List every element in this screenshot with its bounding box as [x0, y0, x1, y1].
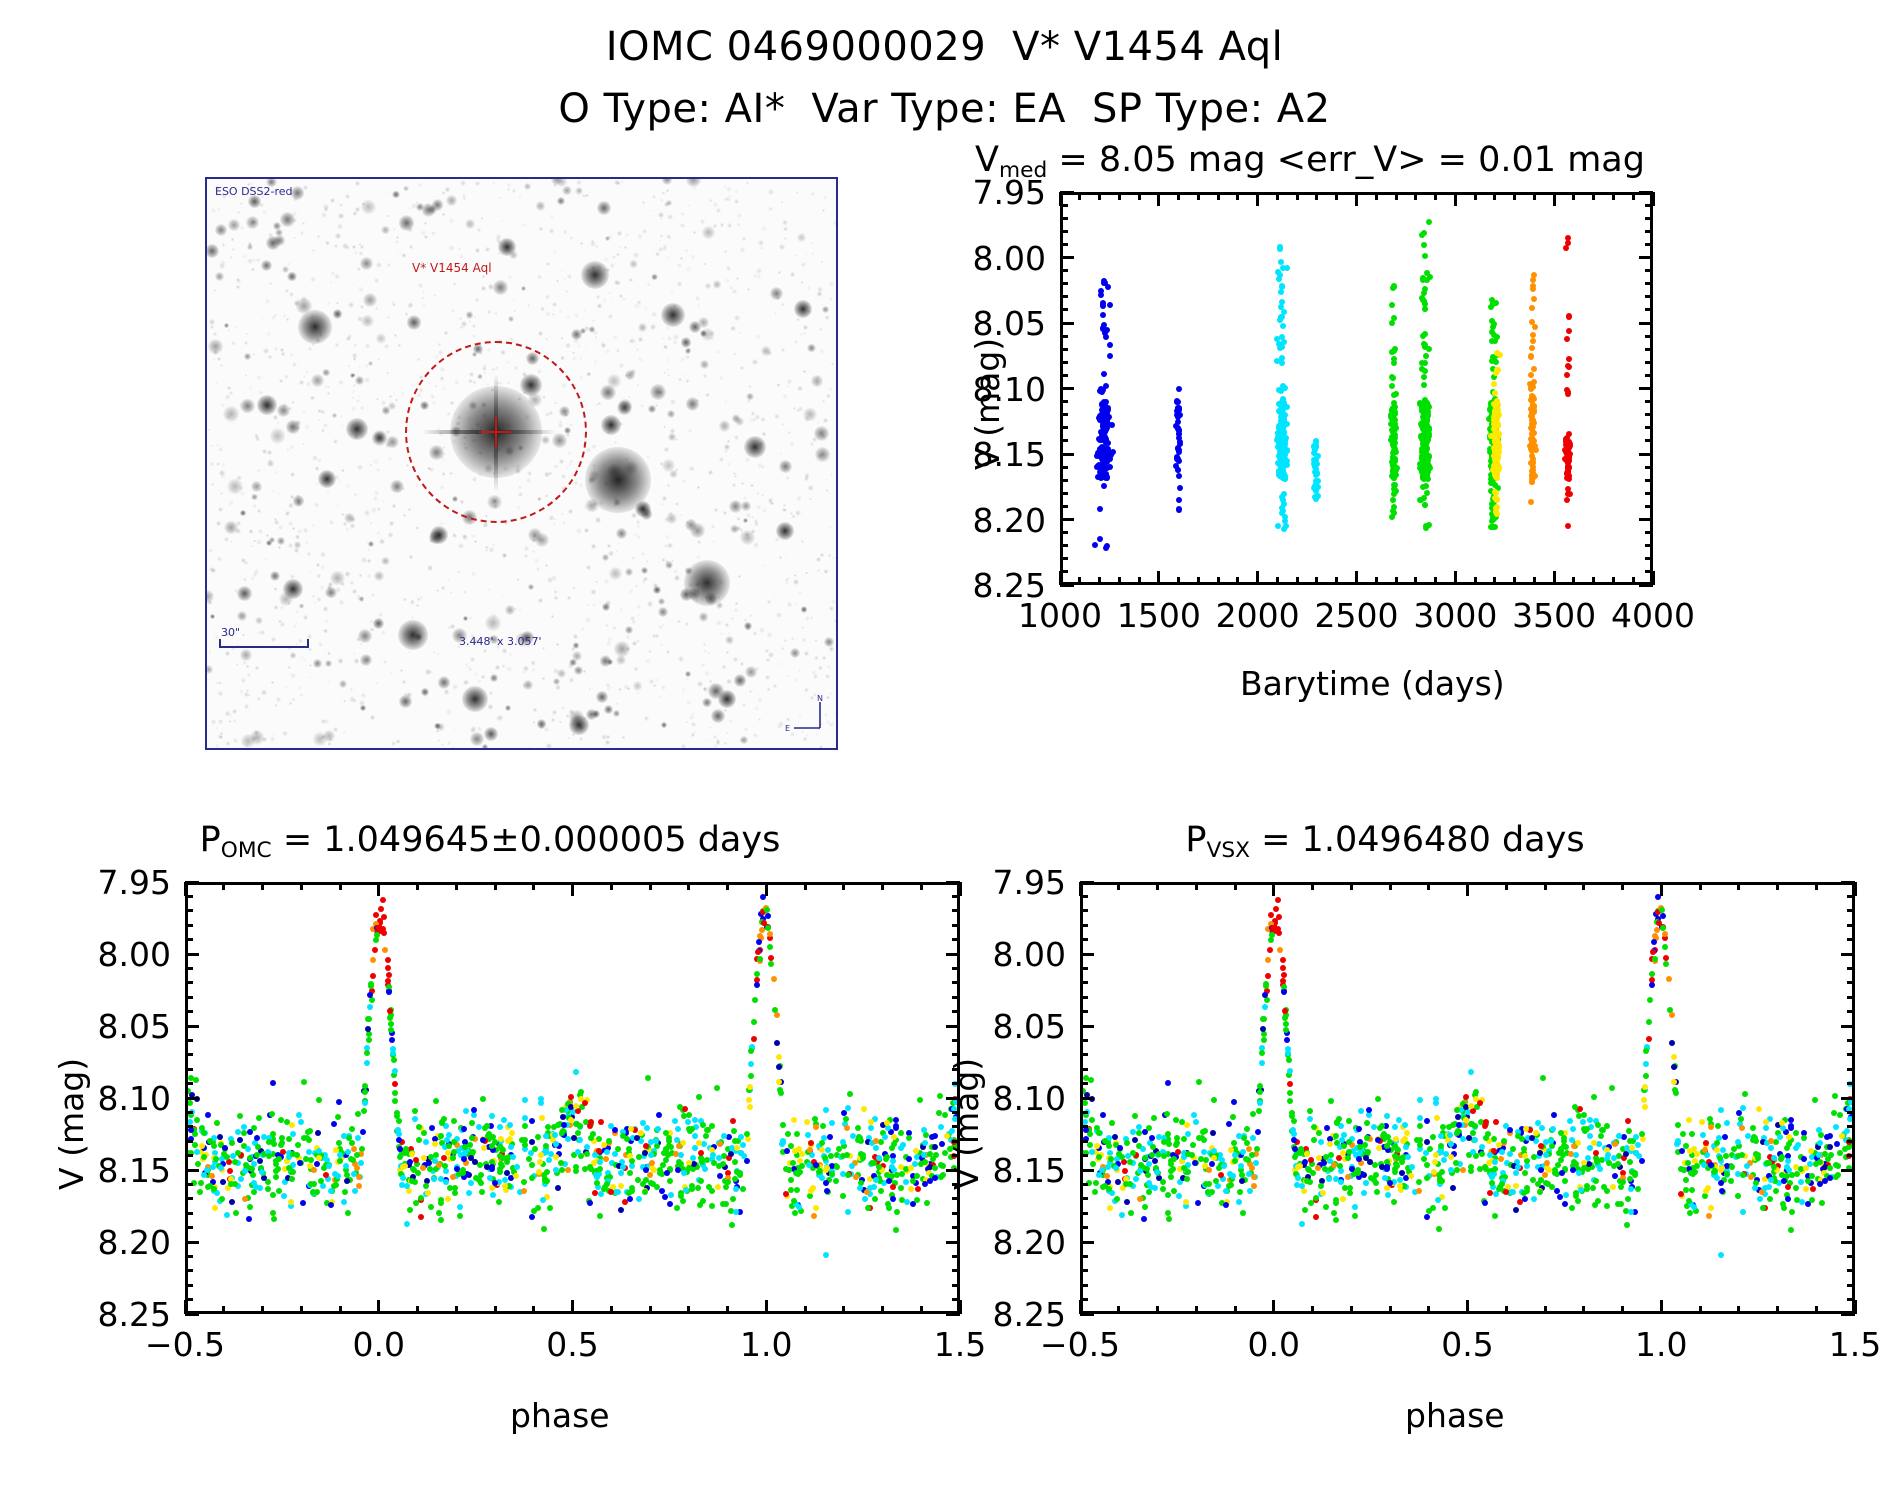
data-point: [428, 1204, 434, 1210]
lightcurve-title: Vmed = 8.05 mag <err_V> = 0.01 mag: [950, 140, 1670, 180]
background-noise: [736, 277, 739, 280]
y-axis-minor-tick: [1060, 544, 1068, 547]
field-star: [250, 730, 264, 744]
background-noise: [489, 547, 494, 552]
background-noise: [265, 299, 270, 304]
field-star: [505, 605, 515, 615]
data-point: [1097, 506, 1103, 512]
background-noise: [302, 222, 305, 225]
background-noise: [387, 263, 391, 267]
data-point: [577, 1137, 583, 1143]
background-noise: [662, 624, 664, 626]
background-noise: [636, 691, 640, 695]
background-noise: [310, 277, 315, 282]
data-point: [723, 1184, 729, 1190]
background-noise: [418, 183, 422, 187]
background-noise: [539, 227, 544, 232]
data-point: [829, 1171, 835, 1177]
background-noise: [510, 337, 514, 341]
data-point: [1282, 385, 1288, 391]
data-point: [827, 1134, 833, 1140]
data-point: [253, 1184, 259, 1190]
phase-vsx-title-prefix: P: [1185, 820, 1206, 860]
background-noise: [251, 577, 254, 580]
data-point: [873, 1145, 879, 1151]
background-noise: [542, 677, 546, 681]
data-point: [636, 1196, 642, 1202]
background-noise: [492, 543, 495, 546]
background-noise: [385, 192, 388, 195]
background-noise: [258, 631, 260, 633]
background-noise: [219, 735, 223, 739]
data-point: [247, 1155, 253, 1161]
data-point: [1421, 439, 1427, 445]
background-noise: [353, 211, 358, 216]
background-noise: [828, 525, 832, 529]
background-noise: [262, 318, 264, 320]
background-noise: [546, 743, 552, 749]
field-star: [368, 361, 373, 366]
background-noise: [759, 627, 765, 633]
y-axis-minor-tick: [1060, 335, 1068, 338]
data-point: [680, 1198, 686, 1204]
data-point: [780, 1122, 786, 1128]
field-star: [228, 219, 240, 231]
background-noise: [667, 543, 672, 548]
data-point: [1491, 332, 1497, 338]
data-point: [247, 1204, 253, 1210]
field-star: [557, 669, 566, 678]
data-point: [642, 1189, 648, 1195]
data-point: [396, 1118, 402, 1124]
background-noise: [779, 244, 785, 250]
data-point: [250, 1172, 256, 1178]
data-point: [1494, 496, 1500, 502]
background-noise: [225, 394, 230, 399]
field-star: [700, 330, 706, 336]
data-point: [740, 1142, 746, 1148]
data-point: [868, 1125, 874, 1131]
background-noise: [802, 638, 806, 642]
background-noise: [208, 429, 210, 431]
data-point: [1279, 314, 1285, 320]
background-noise: [256, 539, 261, 544]
background-noise: [218, 447, 223, 452]
o-type-label: O Type:: [558, 86, 711, 132]
background-noise: [822, 209, 825, 212]
x-axis-tick: [571, 1300, 574, 1314]
background-noise: [481, 675, 485, 679]
background-noise: [725, 623, 729, 627]
data-point: [1488, 524, 1494, 530]
field-star: [269, 537, 275, 543]
background-noise: [370, 715, 375, 720]
field-star: [386, 436, 398, 448]
data-point: [394, 1110, 400, 1116]
background-noise: [358, 366, 361, 369]
data-point: [788, 1177, 794, 1183]
data-point: [1275, 897, 1281, 903]
background-noise: [238, 280, 242, 284]
background-noise: [623, 684, 628, 689]
background-noise: [821, 261, 824, 264]
data-point: [906, 1135, 912, 1141]
data-point: [1529, 305, 1535, 311]
background-noise: [663, 244, 667, 248]
data-point: [748, 1048, 754, 1054]
background-noise: [688, 429, 692, 433]
background-noise: [249, 529, 254, 534]
field-star: [685, 671, 691, 677]
data-point: [703, 1133, 709, 1139]
background-noise: [353, 384, 356, 387]
y-axis-minor-tick: [185, 924, 193, 927]
background-noise: [355, 207, 360, 212]
x-axis-minor-tick: [1177, 192, 1180, 200]
background-noise: [801, 262, 806, 267]
data-point: [418, 1214, 424, 1220]
background-noise: [359, 574, 362, 577]
background-noise: [299, 380, 305, 386]
field-star: [360, 654, 372, 666]
background-noise: [294, 548, 299, 553]
y-axis-minor-tick: [1645, 335, 1653, 338]
background-noise: [655, 252, 660, 257]
data-point: [1277, 448, 1283, 454]
background-noise: [743, 496, 747, 500]
background-noise: [396, 236, 399, 239]
background-noise: [459, 317, 462, 320]
field-star: [661, 722, 667, 728]
background-noise: [449, 245, 454, 250]
field-star: [244, 353, 251, 360]
background-noise: [728, 632, 731, 635]
background-noise: [320, 585, 325, 590]
data-point: [598, 1119, 604, 1125]
neighbour-star: [585, 447, 651, 513]
data-point: [785, 1131, 791, 1137]
background-noise: [756, 268, 762, 274]
background-noise: [287, 666, 290, 669]
background-noise: [565, 343, 571, 349]
field-star: [666, 200, 672, 206]
data-point: [765, 925, 771, 931]
y-axis-minor-tick: [185, 1269, 193, 1272]
background-noise: [803, 737, 807, 741]
data-point: [547, 1205, 553, 1211]
field-star: [625, 568, 633, 576]
background-noise: [345, 571, 351, 577]
data-point: [471, 1107, 477, 1113]
background-noise: [708, 470, 713, 475]
data-point: [819, 1147, 825, 1153]
field-star: [237, 586, 252, 601]
background-noise: [630, 338, 636, 344]
phase-vsx-plot-area: [1080, 882, 1855, 1314]
data-point: [545, 1124, 551, 1130]
background-noise: [290, 472, 295, 477]
background-noise: [293, 624, 297, 628]
data-point: [1391, 449, 1397, 455]
field-star: [368, 541, 374, 547]
background-noise: [427, 565, 433, 571]
background-noise: [746, 182, 748, 184]
y-axis-minor-tick: [1060, 413, 1068, 416]
background-noise: [232, 248, 235, 251]
x-axis-tick: [765, 1300, 768, 1314]
background-noise: [709, 680, 712, 683]
field-star: [208, 339, 223, 354]
x-axis-minor-tick: [1493, 577, 1496, 585]
field-star: [807, 344, 816, 353]
background-noise: [485, 546, 488, 549]
background-noise: [217, 557, 222, 562]
data-point: [561, 1122, 567, 1128]
data-point: [695, 1185, 701, 1191]
background-noise: [247, 673, 251, 677]
background-noise: [640, 404, 644, 408]
data-point: [878, 1139, 884, 1145]
data-point: [675, 1167, 681, 1173]
data-point: [1427, 274, 1433, 280]
background-noise: [803, 325, 808, 330]
background-noise: [663, 426, 665, 428]
background-noise: [339, 600, 344, 605]
background-noise: [411, 616, 414, 619]
data-point: [1531, 366, 1537, 372]
background-noise: [619, 363, 625, 369]
x-axis-tick: [1652, 571, 1655, 585]
background-noise: [320, 565, 325, 570]
background-noise: [324, 386, 327, 389]
background-noise: [699, 391, 702, 394]
background-noise: [784, 639, 787, 642]
background-noise: [530, 192, 532, 194]
background-noise: [581, 627, 585, 631]
x-axis-minor-tick: [1197, 577, 1200, 585]
data-point: [212, 1205, 218, 1211]
data-point: [542, 1178, 548, 1184]
background-noise: [585, 617, 591, 623]
data-point: [597, 1166, 603, 1172]
data-point: [289, 1176, 295, 1182]
background-noise: [556, 280, 558, 282]
data-point: [1532, 324, 1538, 330]
background-noise: [652, 195, 656, 199]
data-point: [1277, 246, 1283, 252]
background-noise: [280, 622, 285, 627]
background-noise: [285, 686, 288, 689]
background-noise: [757, 698, 762, 703]
background-noise: [666, 189, 669, 192]
data-point: [1564, 336, 1570, 342]
data-point: [823, 1180, 829, 1186]
lightcurve-panel: Vmed = 8.05 mag <err_V> = 0.01 mag V (ma…: [950, 140, 1670, 740]
data-point: [1097, 536, 1103, 542]
o-type-value: AI*: [725, 86, 786, 132]
background-noise: [670, 399, 676, 405]
background-noise: [299, 693, 303, 697]
y-axis-minor-tick: [1645, 230, 1653, 233]
data-point: [522, 1097, 528, 1103]
background-noise: [673, 340, 677, 344]
field-star: [609, 567, 622, 580]
data-point: [1566, 356, 1572, 362]
background-noise: [661, 685, 666, 690]
data-point: [452, 1190, 458, 1196]
data-point: [1101, 371, 1107, 377]
field-star: [604, 705, 613, 714]
field-star: [381, 226, 390, 235]
background-noise: [771, 502, 774, 505]
data-point: [903, 1179, 909, 1185]
background-noise: [335, 233, 341, 239]
data-point: [521, 1188, 527, 1194]
background-noise: [501, 220, 504, 223]
data-point: [1092, 542, 1098, 548]
y-axis-tick: [1060, 387, 1074, 390]
background-noise: [361, 557, 367, 563]
background-noise: [453, 282, 457, 286]
background-noise: [341, 469, 345, 473]
background-noise: [221, 403, 225, 407]
data-point: [304, 1135, 310, 1141]
background-noise: [513, 310, 516, 313]
background-noise: [604, 579, 609, 584]
data-point: [1530, 338, 1536, 344]
data-point: [1566, 439, 1572, 445]
data-point: [618, 1170, 624, 1176]
background-noise: [393, 228, 395, 230]
background-noise: [370, 464, 373, 467]
background-noise: [587, 747, 591, 750]
data-point: [1531, 407, 1537, 413]
data-point: [917, 1097, 923, 1103]
y-axis-minor-tick: [1645, 269, 1653, 272]
data-point: [388, 1027, 394, 1033]
data-point: [1391, 411, 1397, 417]
background-noise: [754, 706, 759, 711]
background-noise: [781, 348, 785, 352]
background-noise: [213, 332, 217, 336]
background-noise: [714, 508, 718, 512]
data-point: [306, 1149, 312, 1155]
x-axis-minor-tick: [1138, 192, 1141, 200]
background-noise: [210, 462, 214, 466]
field-star: [446, 195, 457, 206]
background-noise: [354, 493, 357, 496]
background-noise: [645, 658, 651, 664]
background-noise: [566, 315, 570, 319]
x-axis-minor-tick: [455, 1306, 458, 1314]
data-point: [382, 947, 388, 953]
y-axis-tick-label: 8.20: [928, 504, 1046, 537]
data-point: [211, 1143, 217, 1149]
data-point: [229, 1140, 235, 1146]
x-axis-minor-tick: [300, 1306, 303, 1314]
background-noise: [748, 385, 752, 389]
field-star: [811, 375, 823, 387]
background-noise: [790, 441, 795, 446]
background-noise: [262, 210, 267, 215]
data-point: [1529, 479, 1535, 485]
background-noise: [288, 543, 293, 548]
background-noise: [507, 188, 509, 190]
background-noise: [259, 390, 263, 394]
data-point: [587, 1123, 593, 1129]
data-point: [199, 1143, 205, 1149]
y-axis-minor-tick: [185, 1183, 193, 1186]
background-noise: [742, 237, 746, 241]
field-star: [436, 723, 445, 732]
data-point: [423, 1183, 429, 1189]
background-noise: [242, 634, 245, 637]
field-star-bright: [346, 418, 368, 440]
data-point: [1287, 1090, 1293, 1096]
background-noise: [774, 312, 777, 315]
data-point: [461, 1156, 467, 1162]
background-noise: [485, 247, 490, 252]
compass-rose-icon: N E: [784, 694, 826, 736]
background-noise: [237, 211, 240, 214]
data-point: [1281, 526, 1287, 532]
background-noise: [599, 601, 601, 603]
y-axis-tick: [1639, 256, 1653, 259]
data-point: [794, 1187, 800, 1193]
data-point: [316, 1148, 322, 1154]
field-star-bright: [601, 415, 621, 435]
data-point: [764, 907, 770, 913]
data-point: [366, 1037, 372, 1043]
data-point: [915, 1186, 921, 1192]
background-noise: [781, 201, 784, 204]
background-noise: [416, 604, 419, 607]
data-point: [197, 1189, 203, 1195]
data-point: [689, 1183, 695, 1189]
background-noise: [561, 270, 563, 272]
y-axis-minor-tick: [1060, 282, 1068, 285]
background-noise: [408, 508, 411, 511]
x-axis-minor-tick: [1632, 192, 1635, 200]
data-point: [872, 1196, 878, 1202]
background-noise: [608, 291, 611, 294]
background-noise: [417, 358, 420, 361]
y-axis-minor-tick: [1645, 217, 1653, 220]
data-point: [843, 1116, 849, 1122]
background-noise: [580, 357, 583, 360]
background-noise: [772, 527, 774, 529]
field-star: [490, 674, 498, 682]
background-noise: [279, 379, 282, 382]
data-point: [674, 1205, 680, 1211]
background-noise: [226, 741, 231, 746]
background-noise: [734, 435, 740, 441]
x-axis-minor-tick: [687, 882, 690, 890]
background-noise: [733, 657, 738, 662]
background-noise: [690, 254, 696, 260]
background-noise: [223, 741, 225, 743]
background-noise: [753, 542, 759, 548]
data-point: [808, 1188, 814, 1194]
background-noise: [506, 666, 512, 672]
data-point: [1563, 245, 1569, 251]
background-noise: [756, 274, 761, 279]
background-noise: [308, 648, 312, 652]
background-noise: [796, 191, 798, 193]
data-point: [908, 1186, 914, 1192]
background-noise: [231, 238, 234, 241]
data-point: [1424, 467, 1430, 473]
